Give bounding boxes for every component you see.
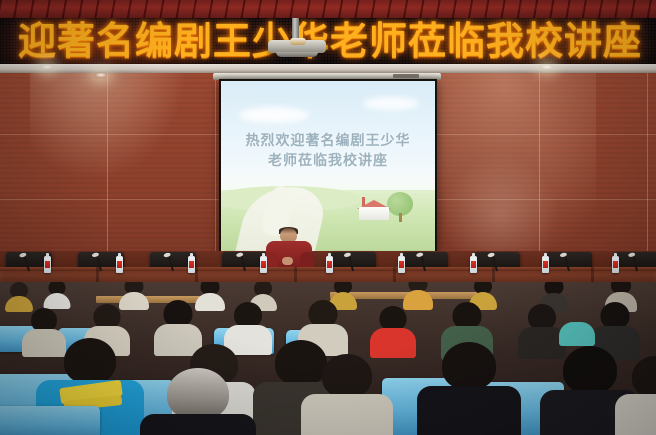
projector-lens-icon [290, 38, 306, 45]
audience-person [196, 282, 224, 306]
audience-person [120, 282, 148, 306]
projection-screen: 热烈欢迎著名编剧王少华 老师莅临我校讲座 [219, 79, 437, 254]
slide-text-line1: 热烈欢迎著名编剧王少华 [246, 133, 411, 149]
person-torso [44, 293, 71, 309]
ceiling-ribs [0, 0, 656, 18]
projector-mount-pole [292, 18, 299, 40]
ceiling-downlight-icon [540, 64, 554, 70]
person-torso [417, 386, 521, 435]
cloud-shape [239, 107, 309, 123]
led-scrolling-banner: 迎著名编剧王少华老师莅临我校讲座 [0, 18, 656, 64]
water-bottle [260, 256, 267, 273]
person-head [309, 300, 338, 327]
lecture-hall-photo: 迎著名编剧王少华老师莅临我校讲座 [0, 0, 656, 435]
person-head [64, 338, 116, 384]
ceiling-downlight-icon [94, 72, 108, 78]
audience-person [404, 282, 432, 304]
person-head [563, 346, 617, 394]
person-head [442, 342, 496, 390]
audience-person [470, 282, 496, 304]
water-bottle [470, 256, 477, 273]
audience-person [560, 316, 594, 350]
house-chimney [362, 197, 365, 206]
speaker-at-table [262, 228, 316, 272]
ceiling-downlight-icon [40, 64, 54, 70]
ceiling-strip [0, 0, 656, 18]
cloud-shape [363, 97, 419, 110]
person-head [322, 354, 372, 398]
audience-person [306, 354, 388, 435]
audience-person [44, 282, 70, 306]
led-banner-text: 迎著名编剧王少华老师莅临我校讲座 [0, 18, 656, 64]
water-bottle [116, 256, 123, 273]
audience-seating [0, 282, 656, 435]
projector-base [276, 52, 318, 57]
speaker-hand [282, 257, 293, 265]
water-bottle [398, 256, 405, 273]
tree-trunk [399, 213, 402, 222]
person-torso [301, 394, 393, 435]
projected-slide: 热烈欢迎著名编剧王少华 老师莅临我校讲座 [221, 81, 435, 252]
house-icon [359, 207, 389, 220]
screen-roller-tag [393, 74, 419, 78]
water-bottle [612, 256, 619, 273]
water-bottle [542, 256, 549, 273]
person-head [632, 356, 656, 398]
person-head [453, 302, 482, 329]
slide-text-line2: 老师莅临我校讲座 [221, 151, 435, 171]
audience-person [6, 282, 32, 308]
audience-person [424, 342, 514, 435]
person-torso [140, 414, 256, 435]
person-head [164, 300, 193, 327]
audience-person [620, 356, 656, 435]
audience-person [372, 306, 414, 354]
water-bottle [326, 256, 333, 273]
wall-light-sheen-left [30, 64, 190, 184]
water-bottle [188, 256, 195, 273]
person-head [601, 302, 630, 329]
water-bottle [44, 256, 51, 273]
audience-seat[interactable] [0, 406, 100, 435]
audience-person [540, 282, 568, 306]
audience-person [150, 368, 246, 435]
person-head-grey-hair [167, 368, 229, 420]
slide-text: 热烈欢迎著名编剧王少华 老师莅临我校讲座 [221, 131, 435, 171]
person-torso [615, 394, 656, 435]
person-scarf [559, 322, 595, 346]
ceiling-projector [268, 38, 326, 58]
